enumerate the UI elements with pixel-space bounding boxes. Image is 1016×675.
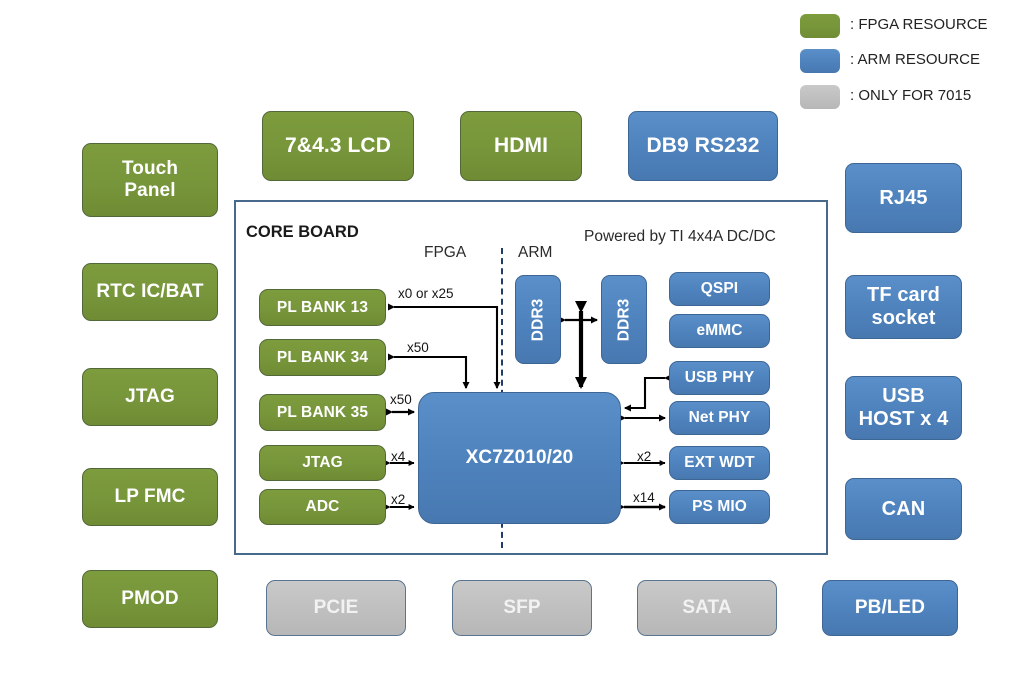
block-emmc-label: eMMC (696, 322, 742, 340)
block-pl-bank-34[interactable]: PL BANK 34 (259, 339, 386, 376)
block-net-phy[interactable]: Net PHY (669, 401, 770, 435)
bus-label-ext-wdt: x2 (637, 449, 651, 464)
block-ddr3-1[interactable]: DDR3 (515, 275, 561, 364)
block-adc-label: ADC (306, 498, 340, 516)
block-ddr3-1-label: DDR3 (529, 298, 547, 341)
block-touch-panel-line2: Panel (124, 180, 175, 202)
fpga-side-label: FPGA (424, 244, 466, 262)
block-rj45-label: RJ45 (879, 187, 927, 210)
block-touch-panel[interactable]: Touch Panel (82, 143, 218, 217)
bus-label-adc: x2 (391, 492, 405, 507)
block-db9-rs232[interactable]: DB9 RS232 (628, 111, 778, 181)
block-lp-fmc[interactable]: LP FMC (82, 468, 218, 526)
block-tf-card-socket[interactable]: TF card socket (845, 275, 962, 339)
legend-label-arm: : ARM RESOURCE (850, 51, 980, 68)
legend-swatch-only7015 (800, 85, 840, 109)
block-rtc-ic-bat-label: RTC IC/BAT (96, 281, 203, 303)
block-usb-host[interactable]: USB HOST x 4 (845, 376, 962, 440)
legend-swatch-fpga (800, 14, 840, 38)
block-ddr3-2-label: DDR3 (615, 298, 633, 341)
block-rj45[interactable]: RJ45 (845, 163, 962, 233)
block-lp-fmc-label: LP FMC (115, 486, 186, 508)
block-ext-wdt[interactable]: EXT WDT (669, 446, 770, 480)
block-ext-wdt-label: EXT WDT (684, 454, 754, 472)
block-pcie[interactable]: PCIE (266, 580, 406, 636)
block-touch-panel-line1: Touch (122, 158, 178, 180)
block-qspi[interactable]: QSPI (669, 272, 770, 306)
block-usb-host-line1: USB (882, 385, 925, 408)
block-can-label: CAN (882, 498, 926, 521)
block-hdmi[interactable]: HDMI (460, 111, 582, 181)
block-pl-bank-34-label: PL BANK 34 (277, 349, 368, 367)
block-usb-phy-label: USB PHY (685, 369, 755, 387)
block-pmod[interactable]: PMOD (82, 570, 218, 628)
block-lcd[interactable]: 7&4.3 LCD (262, 111, 414, 181)
bus-label-jtag: x4 (391, 449, 405, 464)
legend-label-fpga: : FPGA RESOURCE (850, 16, 988, 33)
arm-side-label: ARM (518, 244, 552, 262)
block-tf-card-line1: TF card (867, 284, 940, 307)
block-sata[interactable]: SATA (637, 580, 777, 636)
block-jtag-external[interactable]: JTAG (82, 368, 218, 426)
block-usb-host-line2: HOST x 4 (859, 408, 949, 431)
block-pl-bank-35[interactable]: PL BANK 35 (259, 394, 386, 431)
bus-label-pl-bank-34: x50 (407, 340, 429, 355)
block-sfp-label: SFP (503, 597, 540, 619)
block-ps-mio[interactable]: PS MIO (669, 490, 770, 524)
bus-label-ps-mio: x14 (633, 490, 655, 505)
block-soc-label: XC7Z010/20 (466, 447, 574, 469)
block-tf-card-line2: socket (872, 307, 936, 330)
diagram-canvas: : FPGA RESOURCE : ARM RESOURCE : ONLY FO… (0, 0, 1016, 675)
core-board-title: CORE BOARD (246, 223, 359, 242)
legend-label-only7015: : ONLY FOR 7015 (850, 87, 971, 104)
block-jtag-external-label: JTAG (125, 386, 175, 408)
block-pb-led[interactable]: PB/LED (822, 580, 958, 636)
bus-label-pl-bank-13: x0 or x25 (398, 286, 454, 301)
block-jtag-core-label: JTAG (302, 454, 343, 472)
block-usb-phy[interactable]: USB PHY (669, 361, 770, 395)
block-jtag-core[interactable]: JTAG (259, 445, 386, 481)
block-pmod-label: PMOD (121, 588, 178, 610)
block-pb-led-label: PB/LED (855, 597, 925, 619)
power-note: Powered by TI 4x4A DC/DC (584, 228, 776, 246)
bus-label-pl-bank-35: x50 (390, 392, 412, 407)
block-lcd-label: 7&4.3 LCD (285, 134, 391, 158)
block-pl-bank-13-label: PL BANK 13 (277, 299, 368, 317)
block-can[interactable]: CAN (845, 478, 962, 540)
block-sata-label: SATA (682, 597, 731, 619)
block-ddr3-2[interactable]: DDR3 (601, 275, 647, 364)
block-emmc[interactable]: eMMC (669, 314, 770, 348)
block-adc[interactable]: ADC (259, 489, 386, 525)
legend-swatch-arm (800, 49, 840, 73)
block-ps-mio-label: PS MIO (692, 498, 747, 516)
block-qspi-label: QSPI (701, 280, 738, 298)
block-rtc-ic-bat[interactable]: RTC IC/BAT (82, 263, 218, 321)
block-hdmi-label: HDMI (494, 134, 548, 158)
block-pcie-label: PCIE (314, 597, 359, 619)
block-pl-bank-35-label: PL BANK 35 (277, 404, 368, 422)
block-soc-xc7z[interactable]: XC7Z010/20 (418, 392, 621, 524)
block-sfp[interactable]: SFP (452, 580, 592, 636)
block-pl-bank-13[interactable]: PL BANK 13 (259, 289, 386, 326)
block-db9-rs232-label: DB9 RS232 (647, 134, 760, 158)
block-net-phy-label: Net PHY (689, 409, 751, 427)
